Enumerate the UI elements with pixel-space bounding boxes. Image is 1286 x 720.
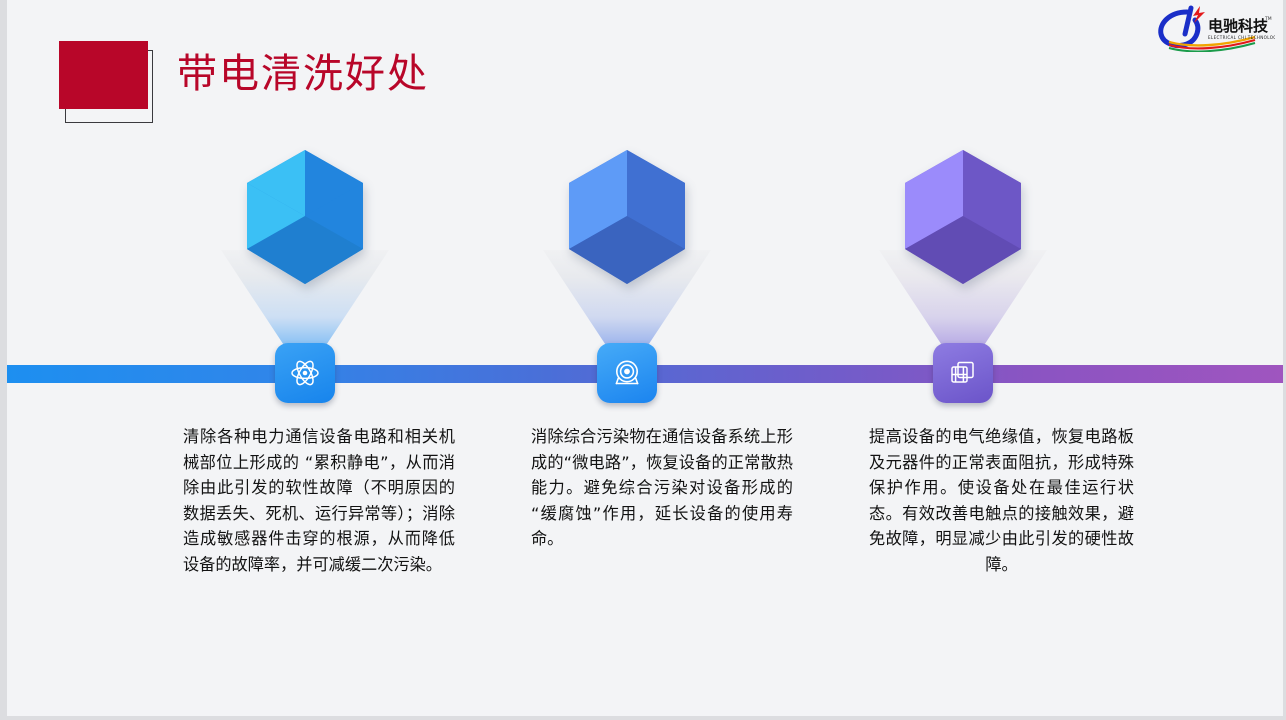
- timeline-icon-badge-2[interactable]: [597, 343, 657, 403]
- cube-graphic-3: [903, 148, 1023, 286]
- content-column-1: 清除各种电力通信设备电路和相关机械部位上形成的 “累积静电”，从而消除由此引发的…: [135, 0, 475, 720]
- company-logo: 电驰科技 ELECTRICAL CHI TECHNOLOGY TM: [1151, 4, 1275, 52]
- logo-chinese-text: 电驰科技: [1208, 17, 1269, 35]
- cube-graphic-1: [245, 148, 365, 286]
- logo-trademark-text: TM: [1264, 16, 1272, 22]
- logo-english-text: ELECTRICAL CHI TECHNOLOGY: [1208, 35, 1275, 40]
- target-icon: [611, 357, 643, 389]
- column-text-1: 清除各种电力通信设备电路和相关机械部位上形成的 “累积静电”，从而消除由此引发的…: [183, 424, 455, 577]
- atom-icon: [289, 357, 321, 389]
- film-strip-icon: [947, 357, 979, 389]
- column-text-3: 提高设备的电气绝缘值，恢复电路板及元器件的正常表面阻抗，形成特殊保护作用。使设备…: [869, 424, 1134, 577]
- slide-canvas: 带电清洗好处 电驰科技 ELECTRICAL CHI TECHNOLOGY TM: [0, 0, 1286, 720]
- cube-graphic-2: [567, 148, 687, 286]
- content-column-2: 消除综合污染物在通信设备系统上形成的“微电路”，恢复设备的正常散热能力。避免综合…: [457, 0, 797, 720]
- content-column-3: 提高设备的电气绝缘值，恢复电路板及元器件的正常表面阻抗，形成特殊保护作用。使设备…: [793, 0, 1133, 720]
- timeline-icon-badge-1[interactable]: [275, 343, 335, 403]
- timeline-icon-badge-3[interactable]: [933, 343, 993, 403]
- column-text-2: 消除综合污染物在通信设备系统上形成的“微电路”，恢复设备的正常散热能力。避免综合…: [531, 424, 793, 552]
